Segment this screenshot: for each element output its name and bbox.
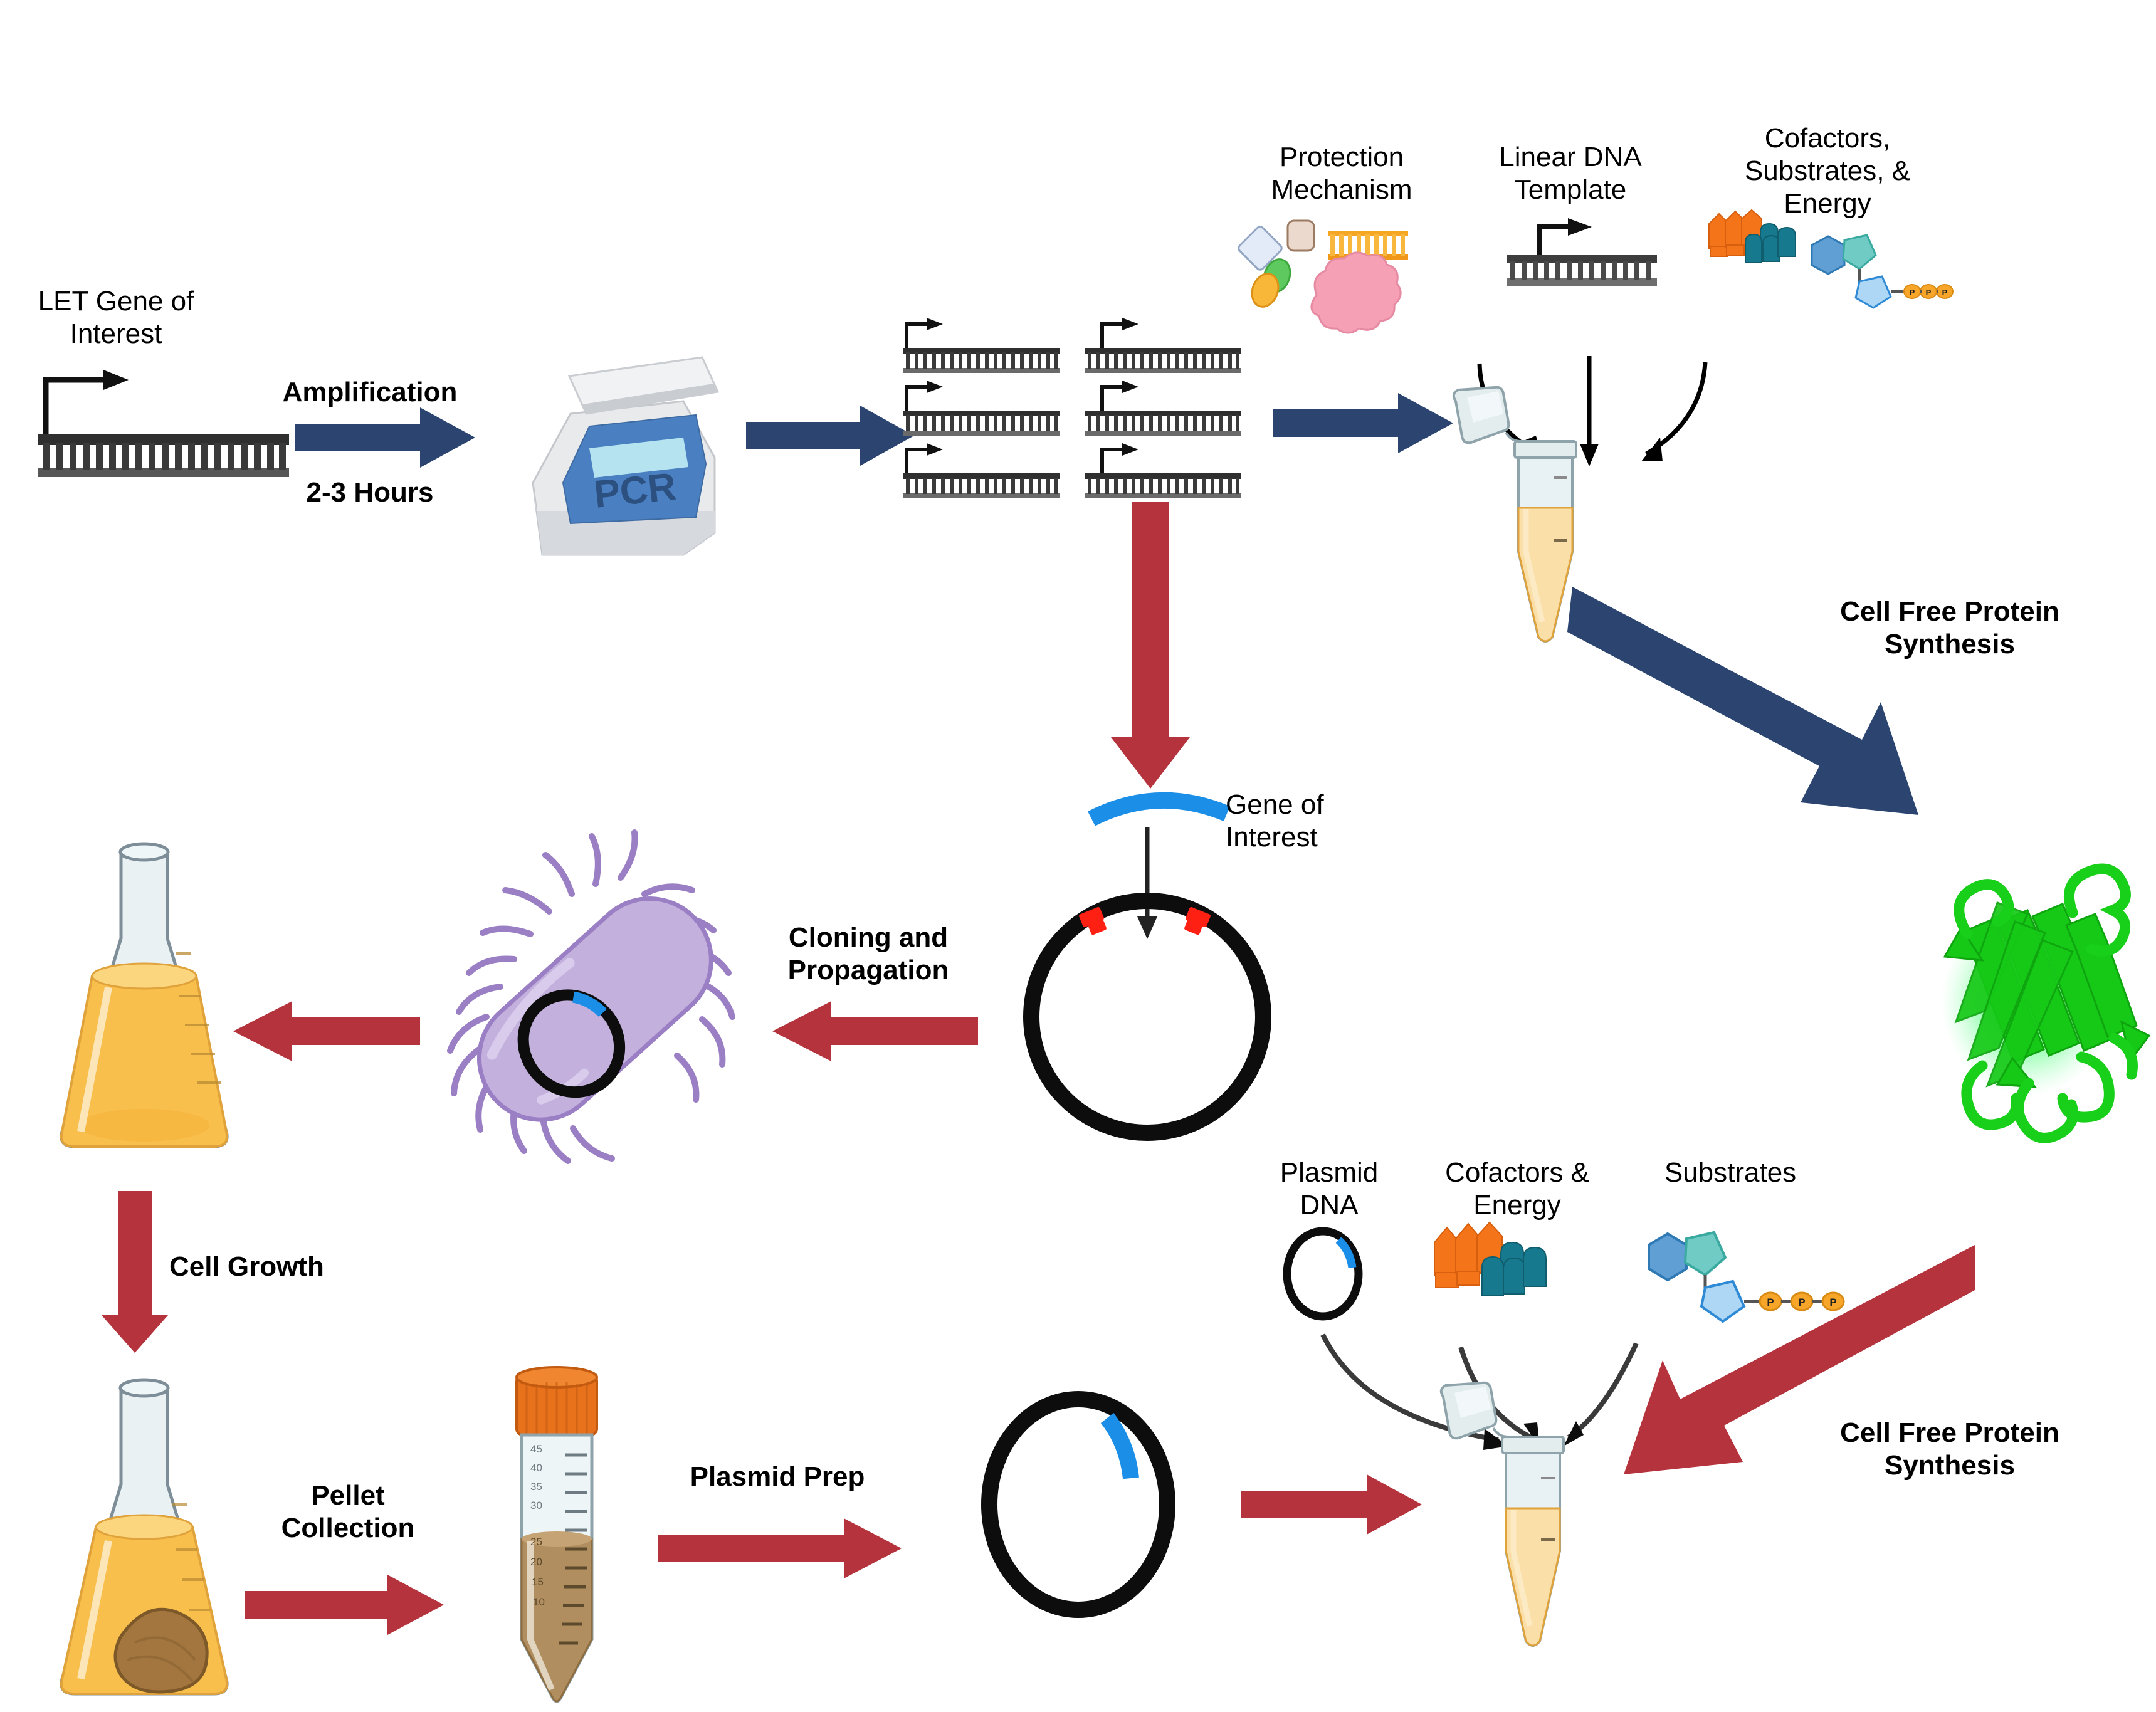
amplicon-grid	[903, 317, 1254, 505]
grad-20: 20	[530, 1556, 542, 1568]
amplification-duration-label: 2-3 Hours	[282, 476, 458, 509]
plasmid-to-cell-arrow	[771, 1000, 978, 1063]
pink-protein-blob-icon	[1312, 253, 1401, 333]
gene-of-interest-arc	[1088, 789, 1232, 826]
let-gene-label: LET Gene of Interest	[13, 285, 219, 350]
cell-to-flask-arrow	[232, 1000, 420, 1063]
substrates-label: Substrates	[1636, 1157, 1824, 1189]
protection-mechanism-label: Protection Mechanism	[1238, 141, 1445, 206]
cofactors-substrates-energy-label: Cofactors, Substrates, & Energy	[1718, 122, 1937, 220]
promoter-arrow-icon	[46, 370, 129, 445]
tube-collar	[1502, 1437, 1564, 1453]
fluorescent-protein-product	[1893, 834, 2156, 1172]
protection-mechanism-icons	[1235, 213, 1442, 360]
cfps-top-arrow	[1567, 533, 1969, 827]
linear-dna-template-icon	[1464, 213, 1671, 295]
cell-growth-arrow	[100, 1191, 169, 1354]
grad-10: 10	[533, 1596, 545, 1608]
linear-dna-template-label: Linear DNA Template	[1467, 141, 1674, 206]
gene-of-interest-label: Gene of Interest	[1226, 789, 1407, 854]
amplification-arrow	[295, 406, 476, 469]
grad-30: 30	[530, 1499, 542, 1511]
plasmid-prep-arrow	[658, 1517, 903, 1580]
tube-collar	[1515, 441, 1576, 458]
grad-40: 40	[530, 1462, 542, 1474]
cofactors-energy-icons-top: P P P	[1705, 210, 1956, 323]
amplicons-to-gene-arrow	[1110, 502, 1191, 790]
figure-canvas: LET Gene of Interest Amp	[0, 0, 2156, 1712]
cfps-bottom-label: Cell Free Protein Synthesis	[1818, 1417, 2081, 1482]
grad-15: 15	[532, 1576, 544, 1588]
plasmid-prep-label: Plasmid Prep	[652, 1461, 903, 1493]
phosphate-group: P P P	[1904, 285, 1953, 298]
plasmid-dna-label: Plasmid DNA	[1248, 1157, 1411, 1222]
svg-text:P: P	[1926, 288, 1932, 297]
reaction-tube-top	[1448, 384, 1586, 647]
conical-tube: 45 40 35 30 25 20 15 10	[495, 1363, 621, 1711]
pellet-collection-label: Pellet Collection	[245, 1479, 451, 1545]
pcr-to-amplicons-arrow	[746, 404, 915, 467]
cloning-propagation-label: Cloning and Propagation	[762, 922, 975, 987]
rounded-square-molecule-icon	[1288, 221, 1314, 251]
amplicons-to-tube-arrow	[1273, 392, 1454, 454]
pcr-display-text: PCR	[592, 465, 678, 517]
pellet-collection-arrow	[245, 1573, 445, 1636]
atp-substrate-icon: P P P	[1812, 235, 1953, 308]
let-gene-dna	[34, 369, 298, 478]
bacterial-cell-icon	[408, 834, 784, 1185]
cofactors-energy-label: Cofactors & Energy	[1423, 1157, 1611, 1222]
purified-plasmid	[972, 1385, 1185, 1624]
svg-text:P: P	[1910, 288, 1915, 297]
cfps-top-label: Cell Free Protein Synthesis	[1818, 596, 2081, 661]
reaction-tube-bottom	[1436, 1379, 1574, 1655]
grad-45: 45	[530, 1443, 542, 1455]
pellet-flask	[53, 1373, 235, 1705]
plasmid-to-bottom-tube-arrow	[1241, 1473, 1423, 1536]
svg-text:P: P	[1942, 288, 1948, 297]
grad-35: 35	[530, 1481, 542, 1493]
grad-25: 25	[530, 1536, 542, 1548]
cell-growth-label: Cell Growth	[169, 1251, 370, 1283]
plasmid-with-restriction-sites	[1012, 878, 1282, 1147]
culture-flask-top	[53, 837, 235, 1157]
pcr-thermocycler-icon: PCR	[495, 339, 727, 570]
amplification-label: Amplification	[276, 376, 464, 409]
